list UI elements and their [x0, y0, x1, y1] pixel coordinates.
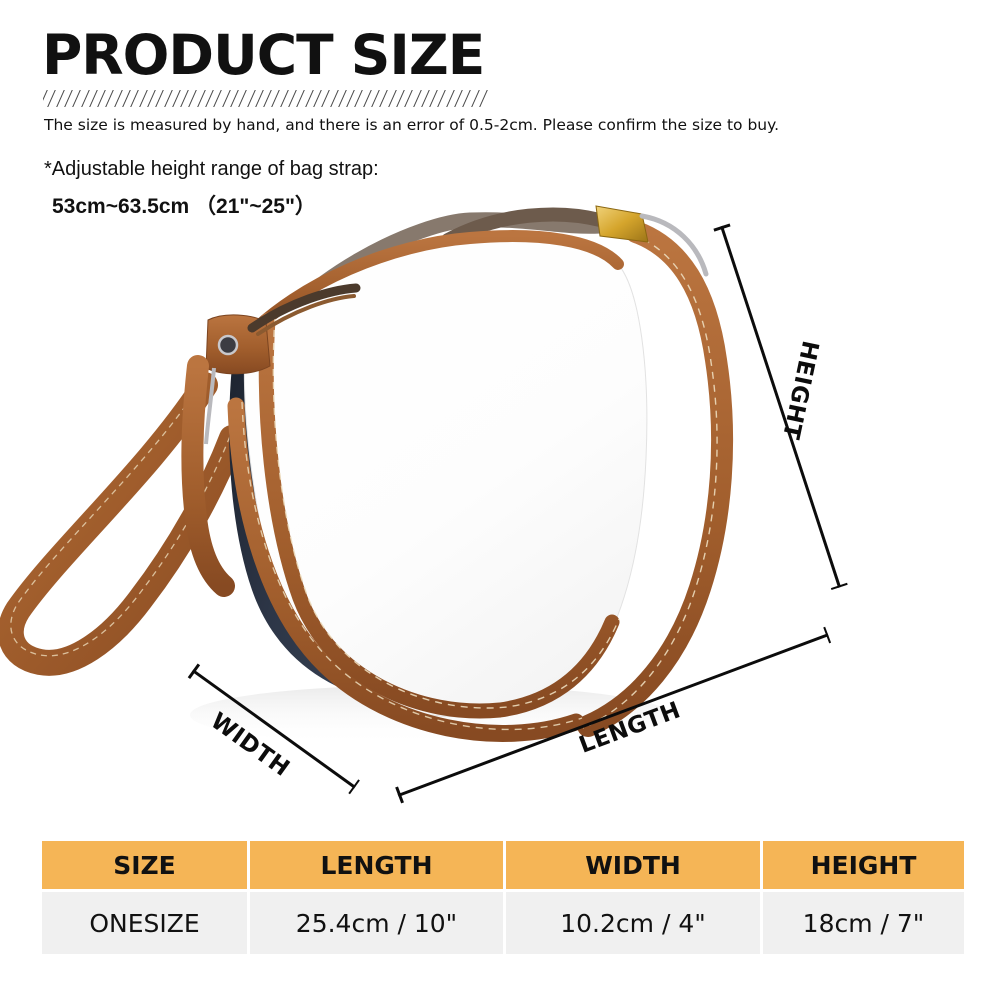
cell-length: 25.4cm / 10" [250, 892, 503, 954]
hatch-divider [43, 90, 498, 107]
column-header-width: WIDTH [506, 841, 760, 889]
gold-hardware-icon [596, 206, 648, 242]
product-size-infographic: PRODUCT SIZE The size is measured by han… [0, 0, 1001, 1001]
measurement-disclaimer: The size is measured by hand, and there … [44, 116, 779, 134]
cell-width: 10.2cm / 4" [506, 892, 760, 954]
size-table: SIZE LENGTH WIDTH HEIGHT ONESIZE 25.4cm … [42, 841, 964, 954]
column-header-size: SIZE [42, 841, 247, 889]
bag-illustration [0, 170, 1001, 830]
page-title: PRODUCT SIZE [42, 28, 484, 83]
cell-size: ONESIZE [42, 892, 247, 954]
column-header-height: HEIGHT [763, 841, 964, 889]
column-header-length: LENGTH [250, 841, 503, 889]
product-photo [0, 170, 1001, 830]
rivet-icon [219, 336, 237, 354]
cell-height: 18cm / 7" [763, 892, 964, 954]
table-header-row: SIZE LENGTH WIDTH HEIGHT [42, 841, 964, 889]
table-row: ONESIZE 25.4cm / 10" 10.2cm / 4" 18cm / … [42, 892, 964, 954]
